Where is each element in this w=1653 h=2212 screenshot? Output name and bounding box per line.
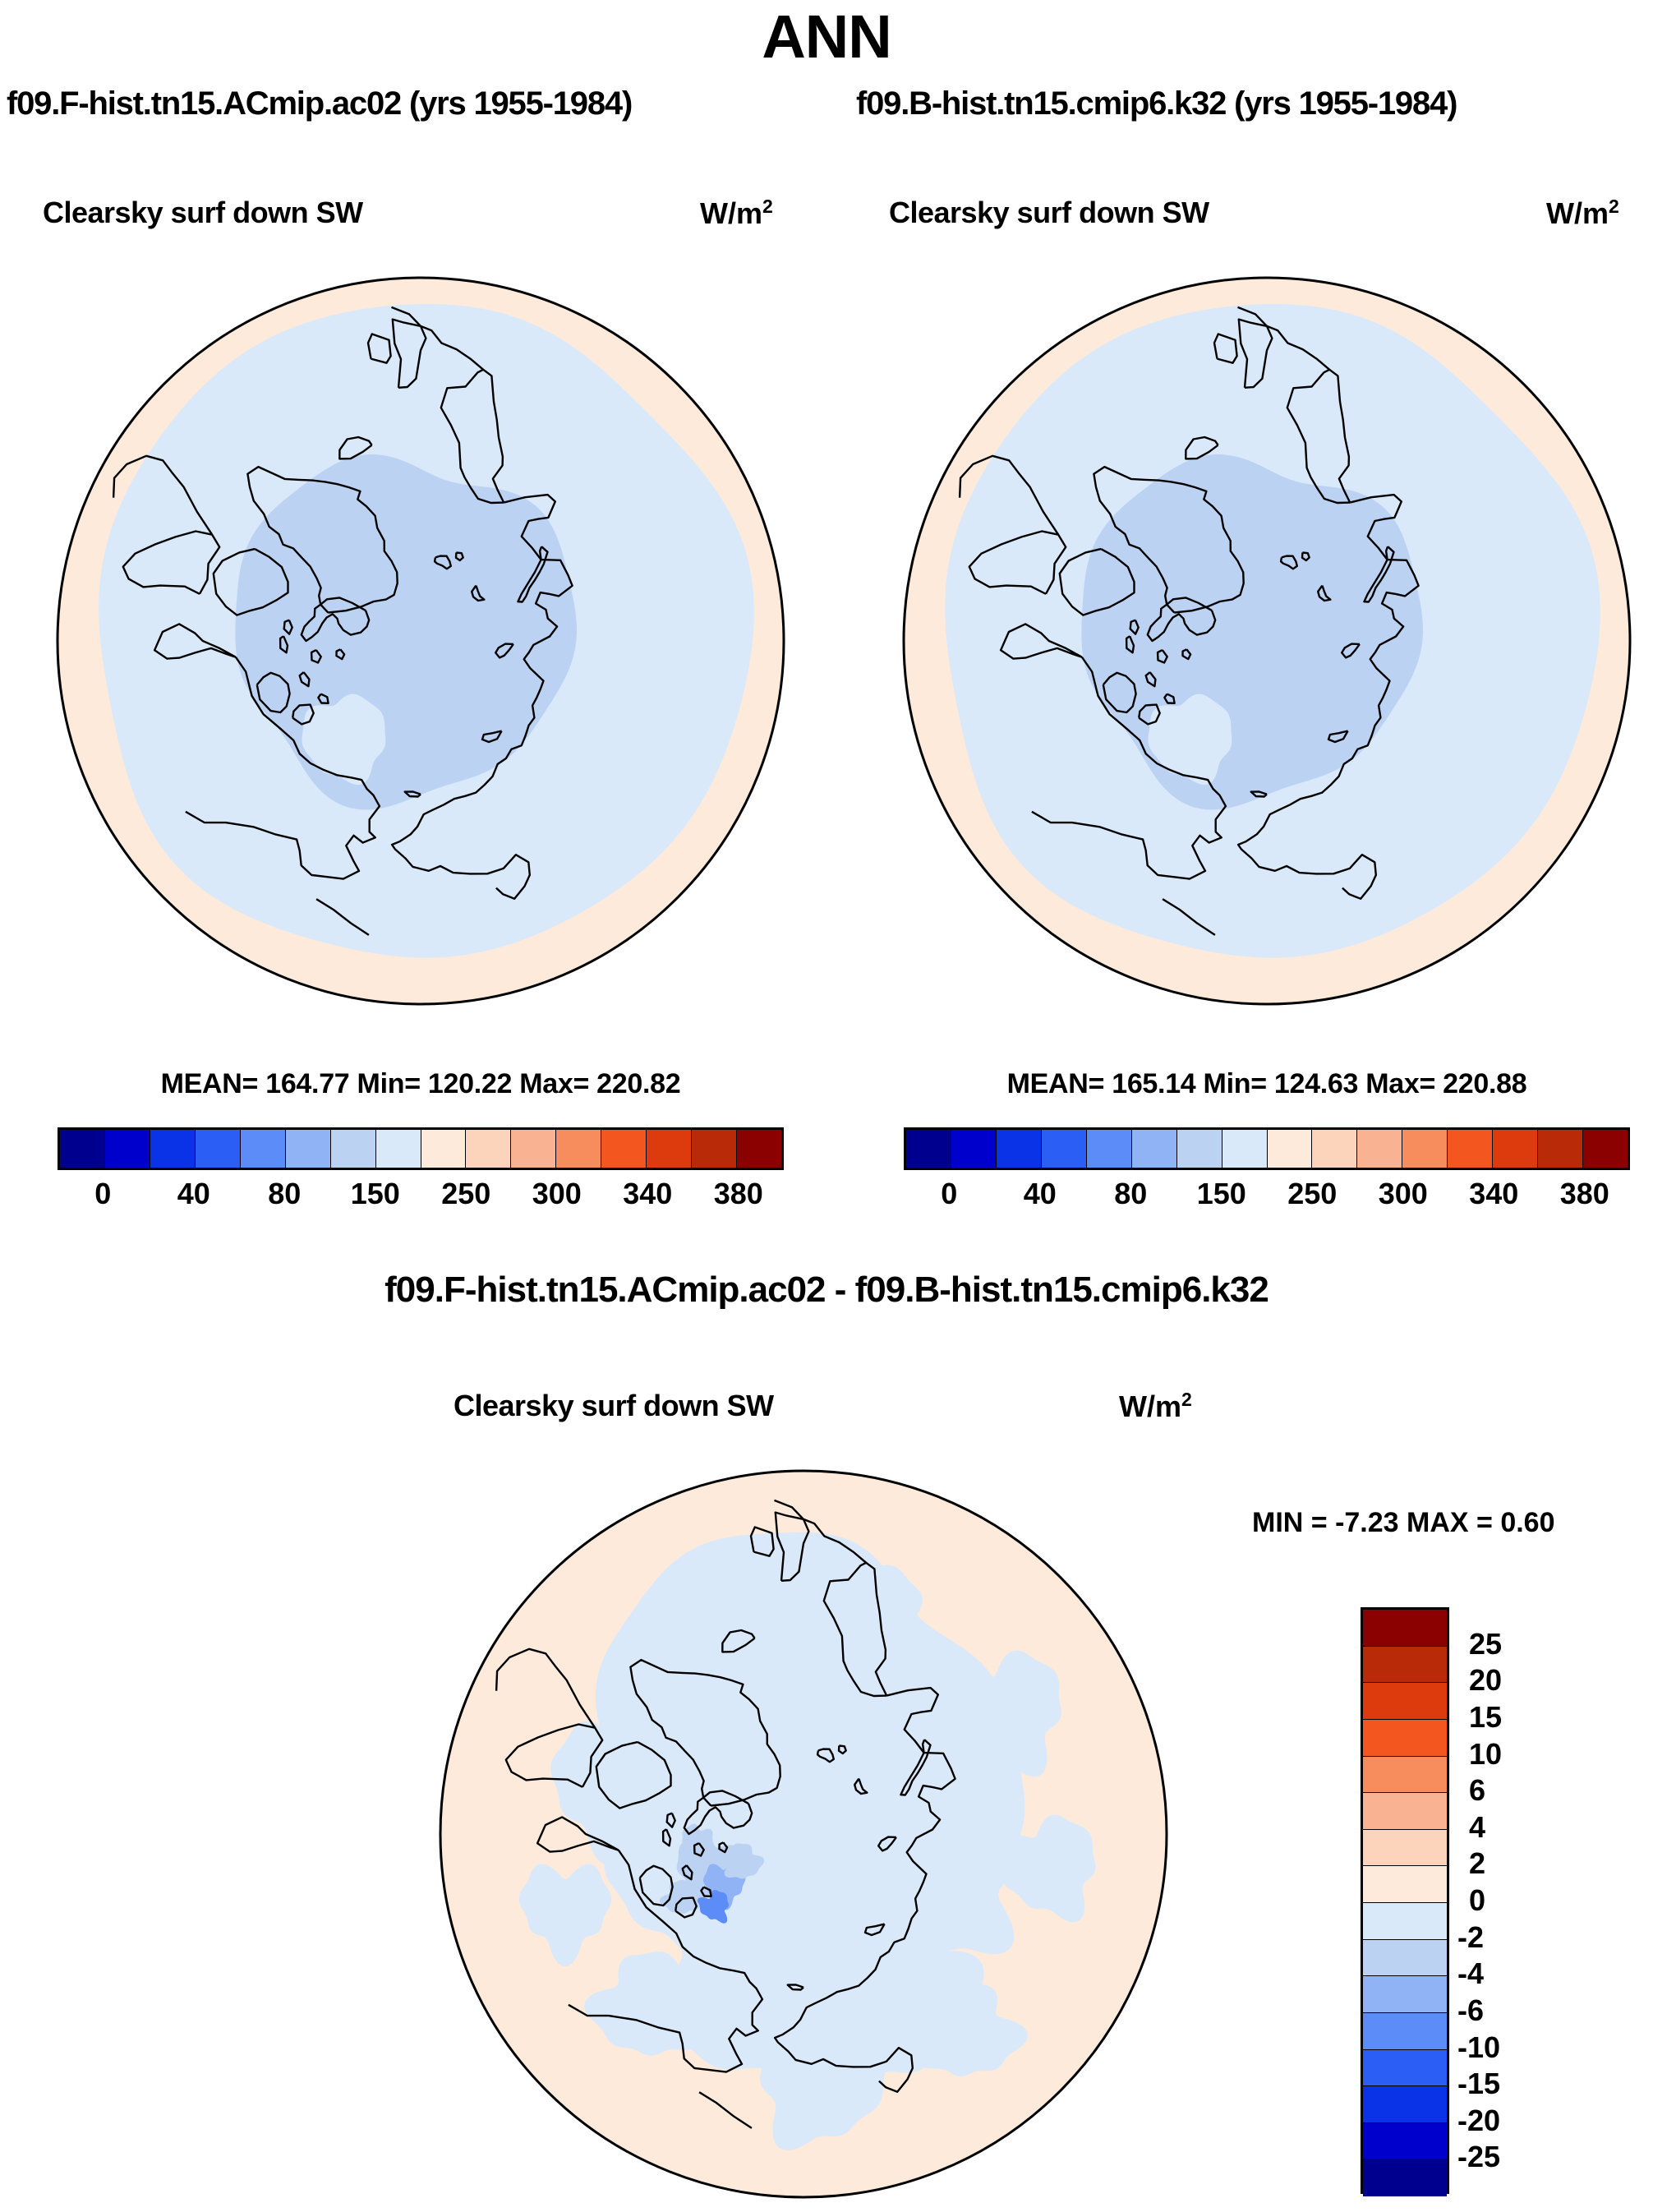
colorbar-tick-label: 250 xyxy=(441,1177,490,1211)
difference-minmax: MIN = -7.23 MAX = 0.60 xyxy=(1252,1507,1555,1539)
colorbar-cell xyxy=(421,1130,467,1168)
colorbar-cell xyxy=(466,1130,511,1168)
colorbar-tick-label: 25 xyxy=(1469,1627,1502,1661)
colorbar-cell xyxy=(286,1130,331,1168)
left-units-text: W/m xyxy=(700,196,762,230)
colorbar-tick-label: 20 xyxy=(1469,1663,1502,1698)
colorbar-tick-label: -25 xyxy=(1457,2140,1500,2174)
colorbar-tick-label: 300 xyxy=(532,1177,582,1211)
case-header-left: f09.F-hist.tn15.ACmip.ac02 (yrs 1955-198… xyxy=(7,85,632,122)
colorbar-right-ticks: 04080150250300340380 xyxy=(904,1170,1630,1216)
colorbar-tick-label: 80 xyxy=(1114,1177,1147,1211)
case-header-right: f09.B-hist.tn15.cmip6.k32 (yrs 1955-1984… xyxy=(856,85,1457,122)
colorbar-cell xyxy=(196,1130,241,1168)
left-units-exponent: 2 xyxy=(762,196,773,217)
colorbar-cell xyxy=(906,1130,951,1168)
colorbar-cell xyxy=(997,1130,1042,1168)
colorbar-cell xyxy=(1402,1130,1448,1168)
colorbar-cell xyxy=(1538,1130,1583,1168)
colorbar-tick-label: 150 xyxy=(351,1177,400,1211)
colorbar-tick-label: -6 xyxy=(1457,1993,1484,2028)
colorbar-tick-label: 340 xyxy=(623,1177,672,1211)
diff-panel-units: W/m2 xyxy=(1119,1389,1192,1424)
colorbar-right[interactable]: 04080150250300340380 xyxy=(904,1127,1630,1216)
colorbar-tick-label: 150 xyxy=(1197,1177,1246,1211)
colorbar-cell xyxy=(1177,1130,1222,1168)
colorbar-cell xyxy=(376,1130,421,1168)
colorbar-cell xyxy=(951,1130,997,1168)
colorbar-tick-label: 0 xyxy=(1469,1883,1485,1918)
colorbar-cell xyxy=(556,1130,601,1168)
colorbar-cell xyxy=(1363,1903,1447,1940)
colorbar-cell xyxy=(1132,1130,1177,1168)
colorbar-cell xyxy=(1363,1866,1447,1903)
polar-map-svg xyxy=(897,271,1637,1011)
colorbar-cell xyxy=(1087,1130,1132,1168)
colorbar-tick-label: 40 xyxy=(177,1177,210,1211)
colorbar-cell xyxy=(1363,2013,1447,2050)
colorbar-tick-label: -4 xyxy=(1457,1956,1484,1991)
colorbar-tick-label: -2 xyxy=(1457,1920,1484,1955)
colorbar-tick-label: -10 xyxy=(1457,2030,1500,2065)
colorbar-cell xyxy=(241,1130,286,1168)
colorbar-difference-ticks: 252015106420-2-4-6-10-15-20-25 xyxy=(1457,1607,1572,2194)
colorbar-left-ticks: 04080150250300340380 xyxy=(58,1170,784,1216)
colorbar-cell xyxy=(150,1130,196,1168)
colorbar-cell xyxy=(1363,1976,1447,2013)
left-panel-variable-label: Clearsky surf down SW xyxy=(43,196,363,230)
map-left-case[interactable] xyxy=(51,271,790,1011)
colorbar-cell xyxy=(1042,1130,1087,1168)
colorbar-cell xyxy=(1357,1130,1402,1168)
colorbar-cell xyxy=(1268,1130,1313,1168)
colorbar-cell xyxy=(511,1130,556,1168)
right-panel-variable-label: Clearsky surf down SW xyxy=(889,196,1209,230)
colorbar-cell xyxy=(1363,1940,1447,1977)
right-panel-stats: MEAN= 165.14 Min= 124.63 Max= 220.88 xyxy=(897,1068,1637,1100)
colorbar-difference[interactable]: 252015106420-2-4-6-10-15-20-25 xyxy=(1361,1607,1449,2194)
colorbar-right-cells xyxy=(904,1127,1630,1170)
colorbar-cell xyxy=(1363,1610,1447,1647)
diff-units-exponent: 2 xyxy=(1181,1389,1192,1410)
colorbar-cell xyxy=(1493,1130,1538,1168)
colorbar-tick-label: 6 xyxy=(1469,1773,1485,1808)
colorbar-cell xyxy=(1363,2050,1447,2087)
map-right-case[interactable] xyxy=(897,271,1637,1011)
colorbar-tick-label: -15 xyxy=(1457,2067,1500,2101)
colorbar-difference-cells xyxy=(1361,1607,1449,2194)
colorbar-tick-label: 80 xyxy=(268,1177,301,1211)
right-units-exponent: 2 xyxy=(1609,196,1619,217)
map-difference[interactable] xyxy=(434,1464,1173,2204)
colorbar-tick-label: 10 xyxy=(1469,1737,1502,1772)
colorbar-cell xyxy=(1448,1130,1493,1168)
colorbar-tick-label: 0 xyxy=(94,1177,111,1211)
colorbar-cell xyxy=(737,1130,781,1168)
colorbar-cell xyxy=(647,1130,692,1168)
diff-units-text: W/m xyxy=(1119,1389,1181,1423)
colorbar-tick-label: 300 xyxy=(1379,1177,1428,1211)
right-panel-units: W/m2 xyxy=(1546,196,1619,231)
colorbar-tick-label: 380 xyxy=(714,1177,763,1211)
colorbar-cell xyxy=(1363,1757,1447,1794)
colorbar-tick-label: 4 xyxy=(1469,1810,1485,1845)
colorbar-cell xyxy=(1222,1130,1268,1168)
figure-canvas: ANN f09.F-hist.tn15.ACmip.ac02 (yrs 1955… xyxy=(0,0,1653,2212)
colorbar-cell xyxy=(60,1130,105,1168)
colorbar-cell xyxy=(1363,2159,1447,2196)
colorbar-tick-label: 340 xyxy=(1469,1177,1518,1211)
colorbar-tick-label: 2 xyxy=(1469,1846,1485,1881)
left-panel-stats: MEAN= 164.77 Min= 120.22 Max= 220.82 xyxy=(51,1068,790,1100)
right-units-text: W/m xyxy=(1546,196,1609,230)
page-title: ANN xyxy=(0,2,1653,71)
left-panel-units: W/m2 xyxy=(700,196,773,231)
colorbar-cell xyxy=(1363,1793,1447,1830)
colorbar-cell xyxy=(1583,1130,1628,1168)
polar-map-svg xyxy=(51,271,790,1011)
colorbar-tick-label: 380 xyxy=(1560,1177,1609,1211)
colorbar-cell xyxy=(692,1130,737,1168)
colorbar-cell xyxy=(1363,2123,1447,2160)
colorbar-tick-label: -20 xyxy=(1457,2104,1500,2138)
colorbar-cell xyxy=(1312,1130,1357,1168)
polar-map-svg xyxy=(434,1464,1173,2204)
diff-panel-variable-label: Clearsky surf down SW xyxy=(454,1389,774,1423)
colorbar-cell xyxy=(1363,1830,1447,1867)
colorbar-tick-label: 40 xyxy=(1024,1177,1057,1211)
colorbar-tick-label: 15 xyxy=(1469,1700,1502,1735)
colorbar-cell xyxy=(1363,1683,1447,1720)
colorbar-left[interactable]: 04080150250300340380 xyxy=(58,1127,784,1216)
colorbar-cell xyxy=(105,1130,150,1168)
colorbar-cell xyxy=(1363,1720,1447,1757)
colorbar-cell xyxy=(331,1130,376,1168)
colorbar-cell xyxy=(1363,1647,1447,1684)
colorbar-cell xyxy=(601,1130,647,1168)
colorbar-cell xyxy=(1363,2086,1447,2123)
colorbar-left-cells xyxy=(58,1127,784,1170)
colorbar-tick-label: 0 xyxy=(941,1177,957,1211)
difference-title: f09.F-hist.tn15.ACmip.ac02 - f09.B-hist.… xyxy=(0,1270,1653,1311)
colorbar-tick-label: 250 xyxy=(1287,1177,1337,1211)
